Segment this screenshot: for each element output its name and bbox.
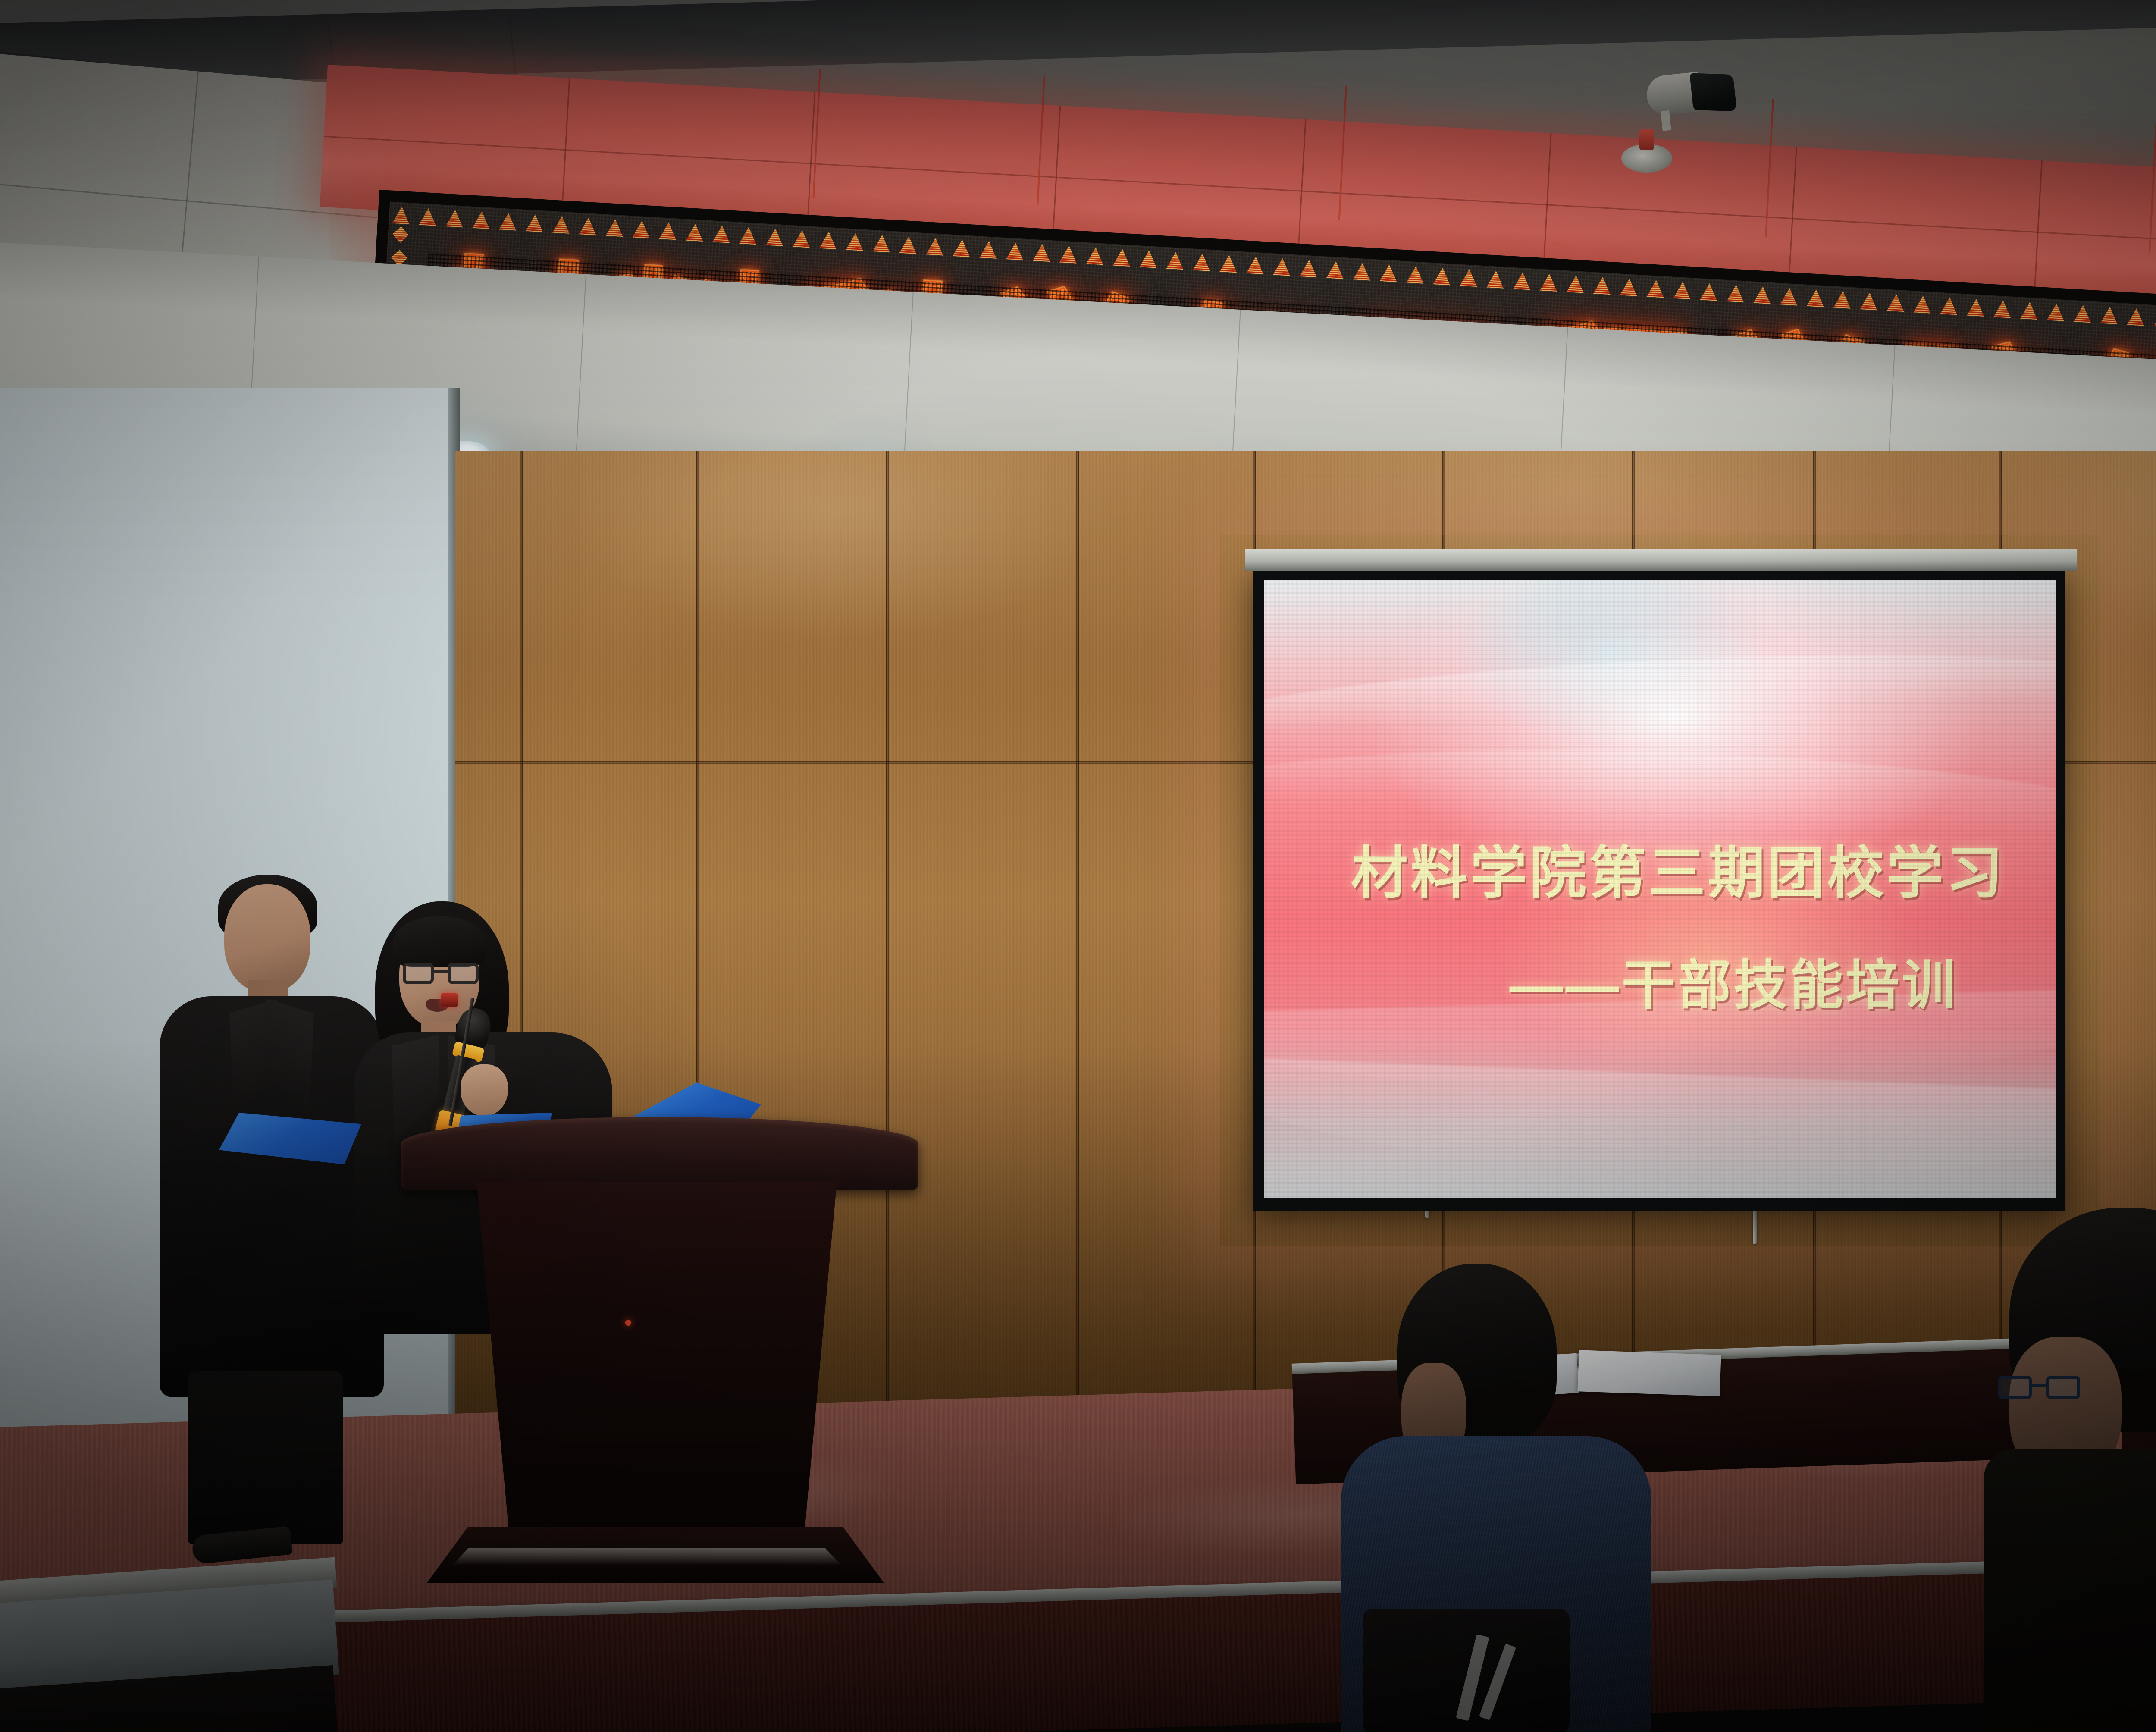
- screen-roller-housing: [1245, 549, 2077, 571]
- lectern-indicator-led: [625, 1320, 631, 1326]
- eyeglasses-icon: [1998, 1376, 2080, 1401]
- fire-sprinkler-icon: [1621, 129, 1673, 177]
- lectern: [401, 1117, 918, 1613]
- projected-slide: 材料学院第三期团校学习 ——干部技能培训: [1264, 580, 2056, 1198]
- trousers: [188, 1371, 343, 1544]
- audience-denim: [1328, 1264, 1682, 1732]
- mic-indicator-light: [441, 993, 458, 1007]
- dark-jacket: [1984, 1449, 2156, 1732]
- ceiling-dark-band: [0, 0, 2156, 88]
- projection-screen: 材料学院第三期团校学习 ——干部技能培训: [1253, 568, 2065, 1211]
- lectern-top: [401, 1117, 918, 1190]
- lecture-hall-scene: 材料科学与工程学院第三期团校学习——干部: [0, 0, 2156, 1732]
- face: [224, 884, 310, 992]
- gooseneck-microphone[interactable]: [418, 996, 483, 1126]
- presenter-group: [142, 854, 681, 1613]
- lectern-body: [452, 1182, 862, 1535]
- backpack: [1363, 1609, 1570, 1732]
- audience-back-glasses: [1984, 1208, 2156, 1732]
- eyeglasses-icon: [403, 963, 479, 986]
- security-camera-icon: [1644, 60, 1741, 134]
- audience-area: [1716, 1221, 2156, 1732]
